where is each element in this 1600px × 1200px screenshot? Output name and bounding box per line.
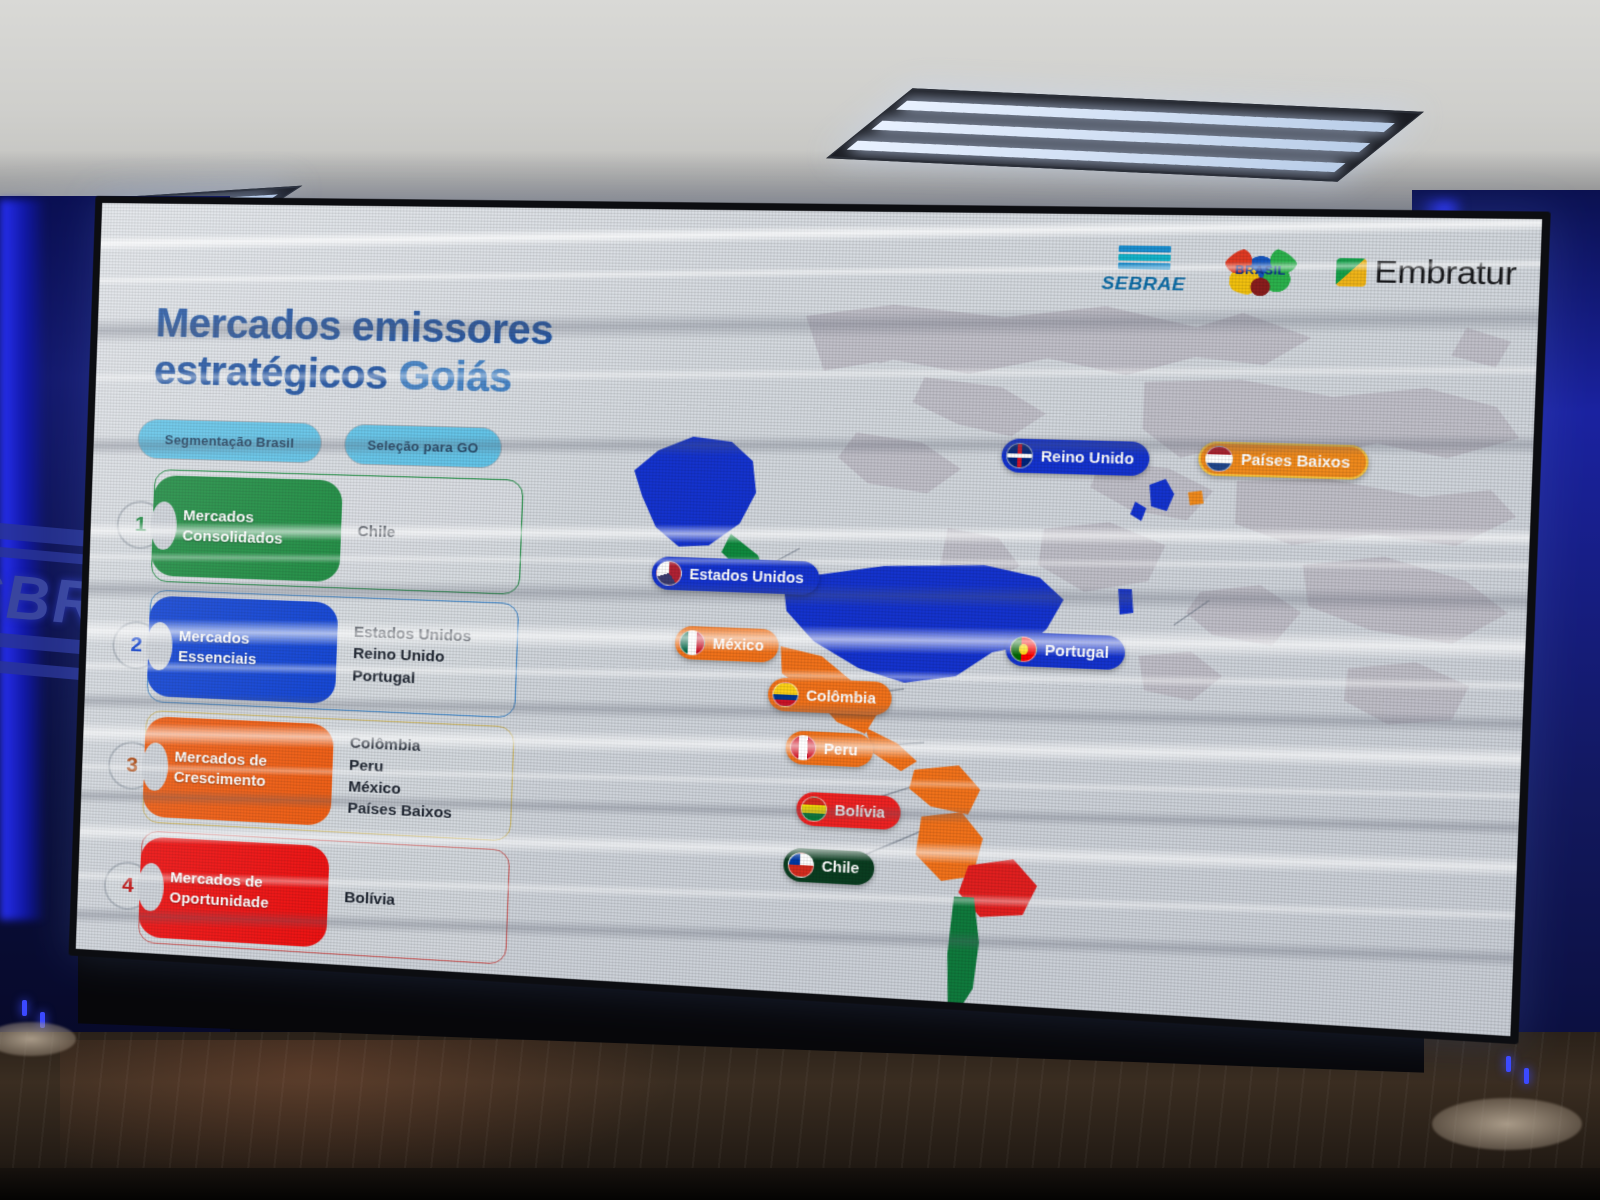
country-item: Chile (357, 521, 396, 544)
floor-led-light (22, 1000, 27, 1016)
brasil-logo-text: BRASIL (1235, 264, 1286, 278)
country-item: Portugal (352, 665, 470, 692)
row-category-line-2: Crescimento (173, 768, 266, 793)
map-pill-label: Estados Unidos (689, 566, 804, 587)
table-row[interactable]: 1 Mercados Consolidados Chile (115, 468, 528, 595)
flag-icon-netherlands (1205, 446, 1234, 473)
floor-mat-right (1432, 1098, 1582, 1150)
map-pill-label: Reino Unido (1041, 448, 1135, 468)
row-countries: Chile (355, 475, 397, 590)
table-row[interactable]: 2 Mercados Essenciais Estados Unidos Rei… (110, 588, 523, 718)
row-category-label: Mercados de Crescimento (173, 747, 267, 792)
row-category-block: Mercados de Crescimento (142, 716, 334, 826)
screen-surface: SEBRAE BRASIL Embratur Mercados emissore… (76, 203, 1542, 1036)
flag-icon-united-kingdom (1006, 443, 1034, 469)
map-pill-bolivia[interactable]: Bolívia (796, 792, 901, 831)
floor-led-light (1506, 1056, 1511, 1072)
row-category-label: Mercados Essenciais (178, 627, 258, 671)
row-countries: Colômbia Peru México Países Baixos (347, 719, 455, 838)
conference-room-photo: SBR SEBRAE BRASIL (0, 0, 1600, 1200)
row-countries: Estados Unidos Reino Unido Portugal (351, 597, 473, 716)
map-pill-mexico[interactable]: México (674, 626, 779, 663)
flag-icon-chile (787, 852, 814, 878)
flag-icon-portugal (1010, 636, 1038, 663)
row-category-line-2: Consolidados (182, 526, 283, 550)
flag-icon-colombia (772, 682, 799, 708)
floor-led-light (1524, 1068, 1529, 1084)
map-pill-label: Países Baixos (1241, 451, 1351, 471)
segmentacao-brasil-pill[interactable]: Segmentação Brasil (137, 418, 322, 463)
row-category-block: Mercados Essenciais (147, 596, 339, 705)
flag-icon-mexico (679, 630, 706, 656)
table-header-row: Segmentação Brasil Seleção para GO (137, 418, 503, 468)
map-pill-label: Bolívia (834, 802, 885, 821)
country-item: Bolívia (344, 887, 395, 912)
page-title-line-1: Mercados emissores (155, 300, 554, 355)
map-pill-reino-unido[interactable]: Reino Unido (1001, 438, 1150, 476)
map-pill-portugal[interactable]: Portugal (1005, 632, 1125, 671)
country-item: Países Baixos (347, 798, 452, 825)
map-pill-estados-unidos[interactable]: Estados Unidos (651, 556, 819, 595)
netherlands-shape (1188, 490, 1205, 505)
map-pill-peru[interactable]: Peru (785, 730, 874, 768)
chile-shape (945, 896, 980, 1008)
page-title-light: Goiás (398, 353, 513, 401)
world-map: Estados Unidos México Reino Unido Países… (514, 270, 1537, 1036)
flag-icon-bolivia (800, 796, 827, 822)
row-category-block: Mercados Consolidados (151, 475, 343, 582)
row-category-line-2: Essenciais (178, 647, 257, 671)
map-pill-chile[interactable]: Chile (783, 847, 875, 885)
portugal-shape (1117, 589, 1134, 615)
map-pill-label: Colômbia (806, 687, 876, 707)
page-title-bold: estratégicos (153, 348, 399, 398)
sebrae-mark-icon (1118, 243, 1171, 272)
map-pill-label: Peru (824, 740, 859, 758)
row-countries: Bolívia (342, 841, 397, 958)
map-pill-label: Portugal (1045, 642, 1110, 662)
page-title: Mercados emissores estratégicos Goiás (153, 300, 554, 404)
row-category-label: Mercados de Oportunidade (169, 868, 270, 914)
foreground-floor-edge (0, 1168, 1600, 1200)
map-pill-label: México (712, 635, 764, 654)
led-presentation-screen: SEBRAE BRASIL Embratur Mercados emissore… (69, 196, 1551, 1044)
table-row[interactable]: 3 Mercados de Crescimento Colômbia Peru … (106, 708, 519, 841)
flag-icon-peru (790, 735, 817, 761)
alaska-shape (632, 435, 758, 549)
selecao-go-pill[interactable]: Seleção para GO (344, 424, 503, 469)
markets-table: 1 Mercados Consolidados Chile (102, 468, 528, 973)
colombia-shape (908, 763, 981, 815)
page-title-line-2: estratégicos Goiás (153, 347, 552, 404)
row-category-line-2: Oportunidade (169, 888, 269, 914)
row-category-label: Mercados Consolidados (182, 506, 284, 550)
map-pill-colombia[interactable]: Colômbia (767, 677, 891, 716)
flag-icon-united-states (656, 560, 683, 586)
table-row[interactable]: 4 Mercados de Oportunidade Bolívia (102, 828, 515, 965)
row-category-block: Mercados de Oportunidade (138, 836, 330, 948)
map-pill-label: Chile (821, 858, 859, 877)
slide: SEBRAE BRASIL Embratur Mercados emissore… (76, 203, 1542, 1036)
map-pill-paises-baixos[interactable]: Países Baixos (1198, 441, 1369, 480)
